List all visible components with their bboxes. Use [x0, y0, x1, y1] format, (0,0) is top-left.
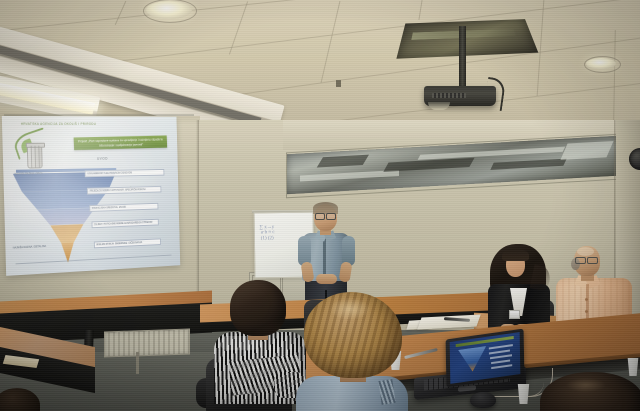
computer-mouse[interactable]: [470, 392, 496, 408]
attendee-wavy-blonde-hair: [296, 292, 408, 411]
slide-callout-1: USKLAĐENOST S EU PRAVNOM OSNOVOM: [85, 169, 164, 178]
eyeglasses-icon: [315, 213, 336, 218]
slide-org-header: HRVATSKA AGENCIJA ZA OKOLIŠ I PRIRODU: [21, 122, 144, 126]
wall-seam-left: [196, 120, 199, 310]
conference-room-photo: HRVATSKA AGENCIJA ZA OKOLIŠ I PRIRODU HR…: [0, 0, 640, 411]
slide-section-label: UVOD: [97, 157, 108, 161]
ceiling-service-panel: [396, 19, 538, 59]
attendee-woman-black-blazer: [488, 244, 552, 334]
radiator-pipe: [136, 352, 139, 374]
downlight-trim-ring-2: [584, 56, 621, 73]
downlight-trim-ring: [143, 0, 197, 23]
radiator: [104, 328, 190, 357]
slide-callout-4: CILJEVI I POTICAJNE MJERE GOSPODARENJA O…: [92, 219, 159, 229]
slide-callout-2: PRIJEDLOG MJERA I AKTIVNOSTI, SPECIFIČNI…: [87, 186, 161, 195]
projection-screen: HRVATSKA AGENCIJA ZA OKOLIŠ I PRIRODU HR…: [2, 116, 180, 276]
slide-callout-3: FINANCIJSKA SREDSTVA, IZVORI: [89, 203, 158, 213]
slide-funnel-graphic: [13, 171, 119, 265]
eyeglasses-icon-2: [575, 257, 598, 262]
attendee-dark-hair-foreground: [540, 372, 640, 411]
whiteboard-notes: ∑ x→y a·b ≈ c (1) (2): [259, 225, 274, 242]
projector-pole-mount: [459, 26, 466, 92]
name-badge: [509, 310, 520, 319]
slide-title-banner: Projekt „Plan uspostave sustava za uprav…: [73, 135, 166, 150]
environment-agency-logo: [13, 129, 58, 170]
attendee-woman-patterned-top: [208, 280, 306, 411]
ceiling-cable-stub: [336, 80, 341, 87]
